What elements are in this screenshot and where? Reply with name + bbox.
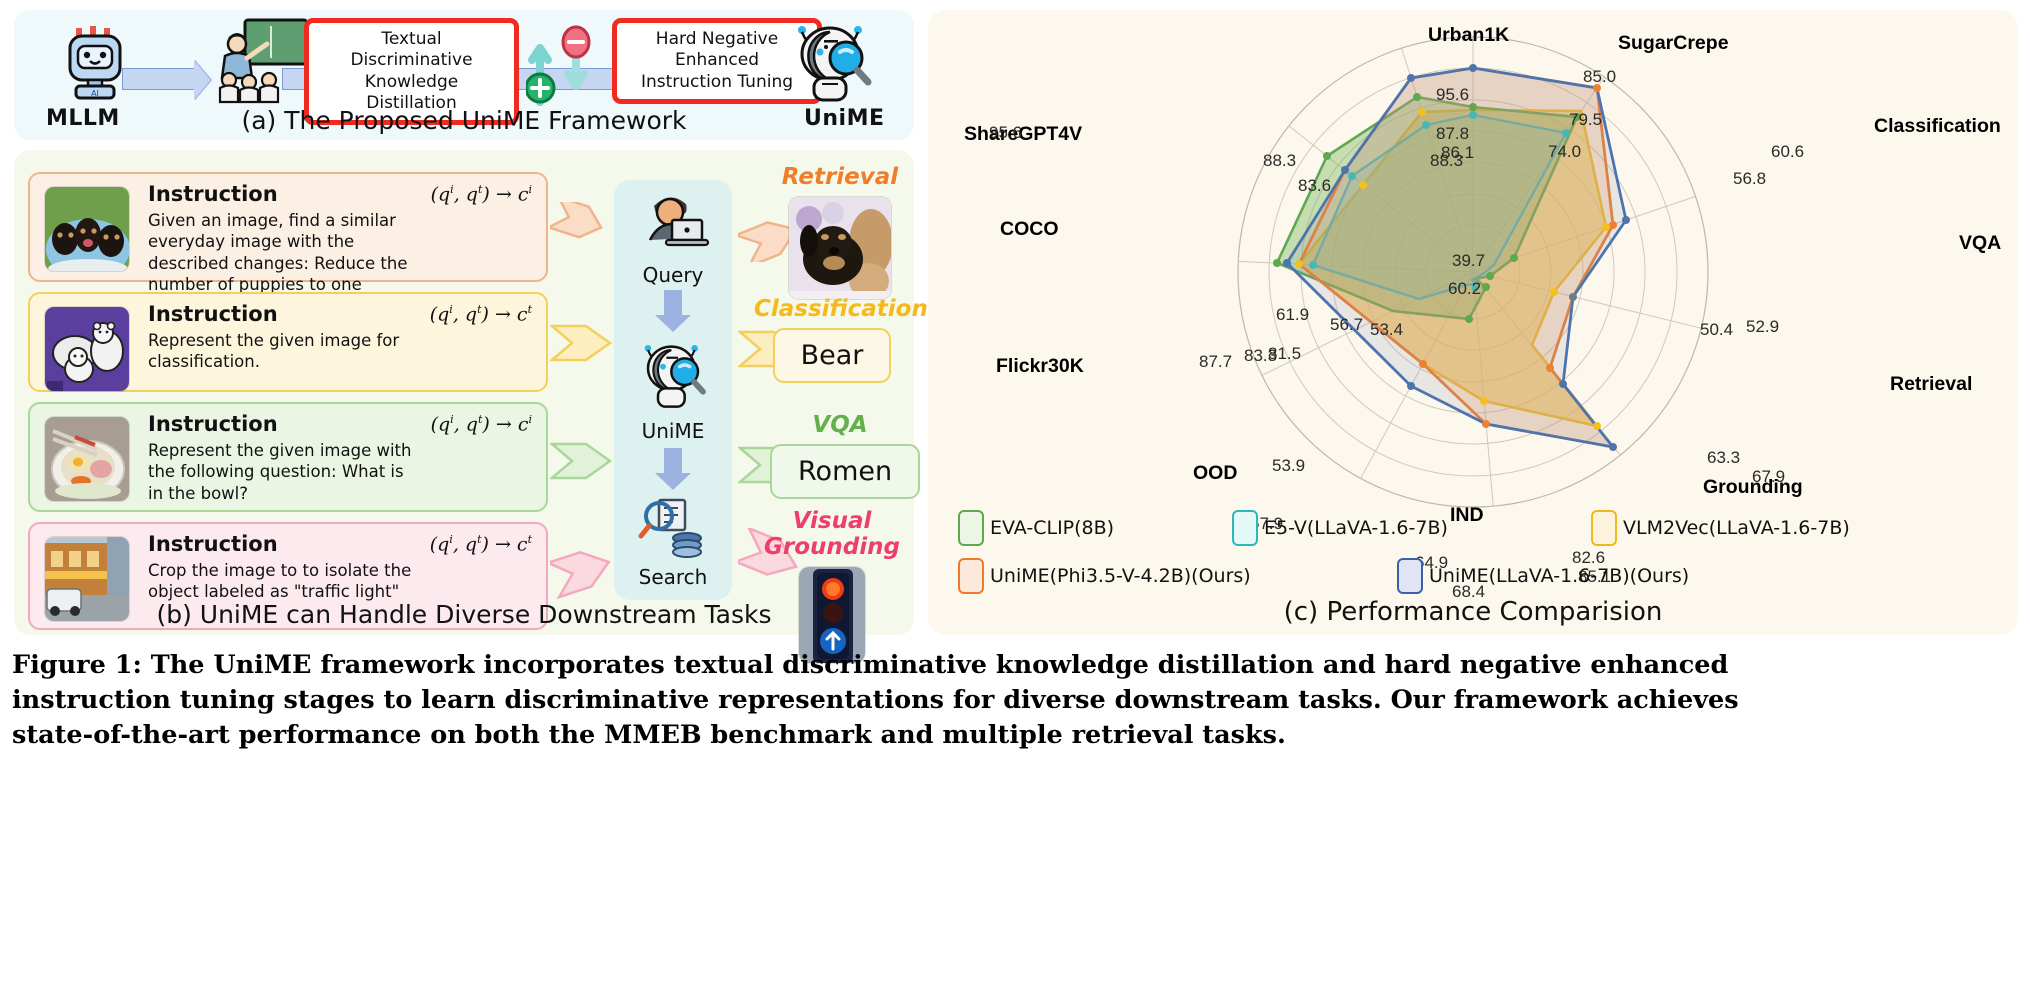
- pipeline-column: Query UniME: [614, 180, 732, 600]
- legend-label: E5-V(LLaVA-1.6-7B): [1264, 517, 1448, 539]
- flow-chevron-vqa: [550, 438, 618, 484]
- panel-a-framework: AI MLLM Textual Dis: [14, 10, 914, 140]
- axis-label-ood: OOD: [1193, 462, 1237, 485]
- panel-b-caption: (b) UniME can Handle Diverse Downstream …: [14, 600, 914, 629]
- output-vqa: VQA Romen: [770, 412, 910, 499]
- axis-label-vqa: VQA: [1959, 232, 2001, 255]
- value-label: 61.9: [1276, 305, 1309, 325]
- puppies-in-bowl-photo: [44, 186, 130, 272]
- stage-2-line-2: Instruction Tuning: [641, 72, 793, 92]
- instruction-formula: (qi, qt) → ci: [431, 183, 532, 205]
- value-label: 60.2: [1448, 279, 1481, 299]
- legend-item-eva-clip[interactable]: EVA-CLIP(8B): [958, 510, 1228, 546]
- value-label: 86.1: [1441, 143, 1474, 163]
- magnifier-document-icon: [637, 496, 709, 558]
- output-value: Romen: [770, 444, 920, 499]
- legend-item-vlm2vec[interactable]: VLM2Vec(LLaVA-1.6-7B): [1591, 510, 1850, 546]
- instruction-body: Crop the image to to isolate the object …: [148, 560, 536, 603]
- value-label: 53.4: [1370, 320, 1403, 340]
- flow-chevron-retrieval: [550, 202, 618, 248]
- pipeline-label: UniME: [614, 419, 732, 443]
- legend-swatch-eva-clip: [958, 510, 984, 546]
- pipeline-search: Search: [614, 496, 732, 589]
- value-label: 85.0: [1583, 67, 1616, 87]
- legend-swatch-vlm2vec: [1591, 510, 1617, 546]
- caption-line-1: Figure 1: The UniME framework incorporat…: [12, 648, 2018, 683]
- flow-arrow-1: [122, 68, 196, 90]
- instruction-body: Represent the given image with the follo…: [148, 440, 536, 504]
- output-grounding: Visual Grounding: [748, 508, 916, 664]
- flow-chevron-classification: [550, 320, 618, 366]
- legend-item-e5v[interactable]: E5-V(LLaVA-1.6-7B): [1232, 510, 1587, 546]
- value-label: 52.9: [1746, 317, 1779, 337]
- legend-item-unime-llava[interactable]: UniME(LLaVA-1.6-7B)(Ours): [1397, 558, 1689, 594]
- value-label: 88.3: [1263, 151, 1296, 171]
- value-label: 74.0: [1548, 142, 1581, 162]
- person-laptop-icon: [636, 190, 710, 256]
- teacher-board-icon: [209, 18, 319, 104]
- output-retrieval: Retrieval: [770, 164, 910, 300]
- axis-label-coco: COCO: [1000, 218, 1059, 241]
- pipeline-unime: UniME: [614, 338, 732, 443]
- value-label: 87.7: [1199, 352, 1232, 372]
- output-title: Classification: [754, 296, 910, 322]
- instruction-card-retrieval: Instruction (qi, qt) → ci Given an image…: [28, 172, 548, 282]
- value-label: 83.6: [1298, 176, 1331, 196]
- pipeline-arrow-1: [664, 290, 682, 316]
- output-title: Visual Grounding: [748, 508, 916, 560]
- stage-2-line-1: Hard Negative Enhanced: [656, 29, 778, 70]
- pipeline-query: Query: [614, 190, 732, 287]
- pipeline-arrow-2: [664, 448, 682, 474]
- unime-robot-icon: [633, 338, 713, 412]
- value-label: 79.5: [1569, 110, 1602, 130]
- instruction-formula: (qi, qt) → ct: [430, 303, 532, 325]
- stage-1-line-1: Textual Discriminative: [350, 29, 472, 70]
- caption-line-3: state-of-the-art performance on both the…: [12, 718, 2018, 753]
- legend-row-2: UniME(Phi3.5-V-4.2B)(Ours) UniME(LLaVA-1…: [958, 558, 1988, 594]
- instruction-card-vqa: Instruction (qi, qt) → ci Represent the …: [28, 402, 548, 512]
- value-label: 67.9: [1752, 467, 1785, 487]
- axis-label-sharegpt4v: ShareGPT4V: [964, 123, 1082, 146]
- ramen-bowl-photo: [44, 416, 130, 502]
- mllm-robot-icon: AI: [54, 24, 146, 102]
- value-label: 95.6: [1436, 85, 1469, 105]
- legend-row-1: EVA-CLIP(8B) E5-V(LLaVA-1.6-7B) VLM2Vec(…: [958, 510, 1988, 546]
- panel-c-caption: (c) Performance Comparision: [928, 597, 2018, 627]
- output-title: VQA: [770, 412, 910, 438]
- instruction-body: Represent the given image for classifica…: [148, 330, 536, 373]
- axis-label-classification: Classification: [1874, 115, 2001, 138]
- caption-line-2: instruction tuning stages to learn discr…: [12, 683, 2018, 718]
- legend-swatch-unime-phi: [958, 558, 984, 594]
- axis-label-flickr30k: Flickr30K: [996, 355, 1084, 378]
- output-title: Retrieval: [770, 164, 910, 190]
- panel-a-caption: (a) The Proposed UniME Framework: [14, 106, 914, 135]
- value-label: 95.6: [989, 123, 1022, 143]
- legend-label: UniME(LLaVA-1.6-7B)(Ours): [1429, 565, 1689, 587]
- legend-label: EVA-CLIP(8B): [990, 517, 1114, 539]
- instruction-card-classification: Instruction (qi, qt) → ct Represent the …: [28, 292, 548, 392]
- unime-robot-icon: [784, 18, 880, 106]
- legend-swatch-e5v: [1232, 510, 1258, 546]
- value-label: 81.5: [1268, 344, 1301, 364]
- value-label: 63.3: [1707, 448, 1740, 468]
- pipeline-label: Search: [614, 565, 732, 589]
- legend-item-unime-phi[interactable]: UniME(Phi3.5-V-4.2B)(Ours): [958, 558, 1393, 594]
- value-label: 60.6: [1771, 142, 1804, 162]
- axis-label-retrieval: Retrieval: [1890, 373, 1972, 396]
- panel-b-tasks: Instruction (qi, qt) → ci Given an image…: [14, 150, 914, 635]
- legend-swatch-unime-llava: [1397, 558, 1423, 594]
- left-column: AI MLLM Textual Dis: [14, 10, 914, 635]
- value-label: 56.8: [1733, 169, 1766, 189]
- legend-label: UniME(Phi3.5-V-4.2B)(Ours): [990, 565, 1251, 587]
- axis-label-urban1k: Urban1K: [1428, 24, 1509, 47]
- value-label: 87.8: [1436, 124, 1469, 144]
- plus-minus-arrows-icon: [526, 24, 602, 106]
- flow-chevron-grounding: [550, 542, 618, 600]
- axis-label-sugarcrepe: SugarCrepe: [1618, 32, 1729, 55]
- chart-legend: EVA-CLIP(8B) E5-V(LLaVA-1.6-7B) VLM2Vec(…: [958, 510, 1988, 606]
- value-label: 56.7: [1330, 315, 1363, 335]
- output-value: Bear: [773, 328, 892, 383]
- value-label: 39.7: [1452, 251, 1485, 271]
- instruction-formula: (qi, qt) → ct: [430, 533, 532, 555]
- pipeline-label: Query: [614, 263, 732, 287]
- dog-with-teddy-photo: [788, 196, 892, 300]
- svg-text:AI: AI: [91, 89, 99, 98]
- value-label: 53.9: [1272, 456, 1305, 476]
- polar-bears-painting: [44, 306, 130, 392]
- legend-label: VLM2Vec(LLaVA-1.6-7B): [1623, 517, 1850, 539]
- output-classification: Classification Bear: [754, 296, 910, 383]
- panel-c-performance: Urban1K SugarCrepe Classification VQA Re…: [928, 10, 2018, 635]
- instruction-formula: (qi, qt) → ci: [431, 413, 532, 435]
- value-label: 50.4: [1700, 320, 1733, 340]
- figure-caption: Figure 1: The UniME framework incorporat…: [12, 648, 2018, 754]
